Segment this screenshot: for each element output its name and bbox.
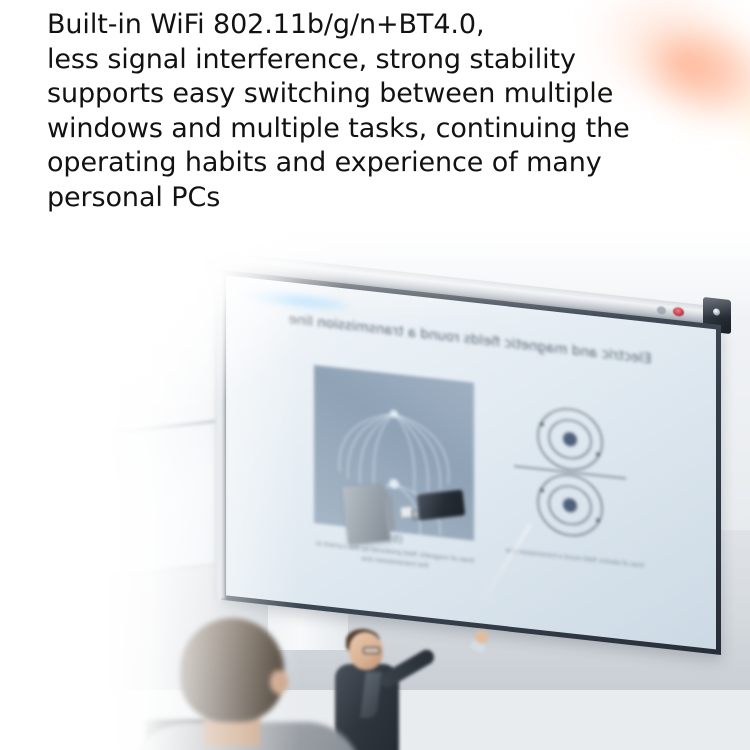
case-button-icon: [657, 306, 666, 315]
projection-screen-surface: Electric and magnetic fields round a tra…: [226, 275, 716, 649]
attendee-grey-head: [180, 618, 284, 722]
attendee-teal-figure: [0, 662, 160, 750]
photo-scene: Electric and magnetic fields round a tra…: [0, 200, 750, 750]
headline-line-2: less signal interference, strong stabili…: [47, 43, 707, 78]
wall-speaker-icon: [342, 483, 390, 545]
ceiling-projector-icon: [417, 489, 466, 520]
projection-screen-frame: Electric and magnetic fields round a tra…: [221, 270, 721, 655]
headline-line-1: Built-in WiFi 802.11b/g/n+BT4.0,: [47, 8, 707, 43]
product-feature-banner: Built-in WiFi 802.11b/g/n+BT4.0, less si…: [0, 0, 750, 750]
headline-line-6: personal PCs: [47, 181, 707, 216]
slide-title: Electric and magnetic fields round a tra…: [280, 309, 660, 370]
headline-line-4: windows and multiple tasks, continuing t…: [47, 112, 707, 147]
attendee-teal-hand: [74, 724, 108, 750]
headline-line-3: supports easy switching between multiple: [47, 77, 707, 112]
classroom-photo: Electric and magnetic fields round a tra…: [0, 200, 750, 750]
status-led-icon: [713, 308, 720, 316]
attendee-grey-ear: [270, 670, 288, 694]
headline-line-5: operating habits and experience of many: [47, 146, 707, 181]
slide-content: Electric and magnetic fields round a tra…: [256, 301, 686, 628]
screen-side-rail: [215, 269, 225, 600]
feature-description-text: Built-in WiFi 802.11b/g/n+BT4.0, less si…: [47, 8, 707, 215]
